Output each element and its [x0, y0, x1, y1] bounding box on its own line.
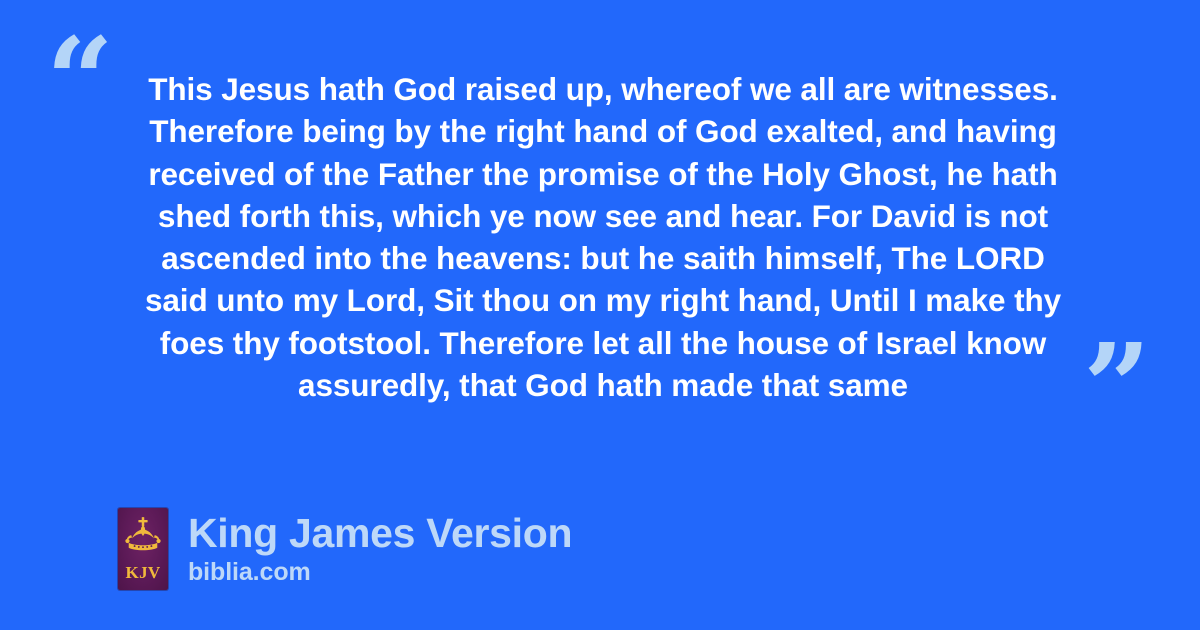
attribution-text: King James Version biblia.com [188, 508, 572, 587]
kjv-badge: KJV [118, 508, 168, 590]
open-quote-icon: “ [46, 22, 114, 140]
site-url: biblia.com [188, 557, 572, 587]
kjv-badge-label: KJV [118, 564, 168, 581]
bible-version-title: King James Version [188, 510, 572, 556]
quote-line: foes thy footstool. Therefore let all th… [128, 322, 1078, 364]
crown-icon [122, 515, 164, 557]
quote-line: said unto my Lord, Sit thou on my right … [128, 279, 1078, 321]
quote-line: Therefore being by the right hand of God… [128, 110, 1078, 152]
quote-line: ascended into the heavens: but he saith … [128, 237, 1078, 279]
quote-line: shed forth this, which ye now see and he… [128, 195, 1078, 237]
quote-line: This Jesus hath God raised up, whereof w… [128, 68, 1078, 110]
quote-line: received of the Father the promise of th… [128, 153, 1078, 195]
close-quote-icon: ” [1083, 328, 1151, 446]
quote-card: “ This Jesus hath God raised up, whereof… [0, 0, 1200, 630]
quote-text: This Jesus hath God raised up, whereof w… [128, 68, 1078, 406]
attribution: KJV King James Version biblia.com [118, 508, 572, 590]
quote-line: assuredly, that God hath made that same [128, 364, 1078, 406]
